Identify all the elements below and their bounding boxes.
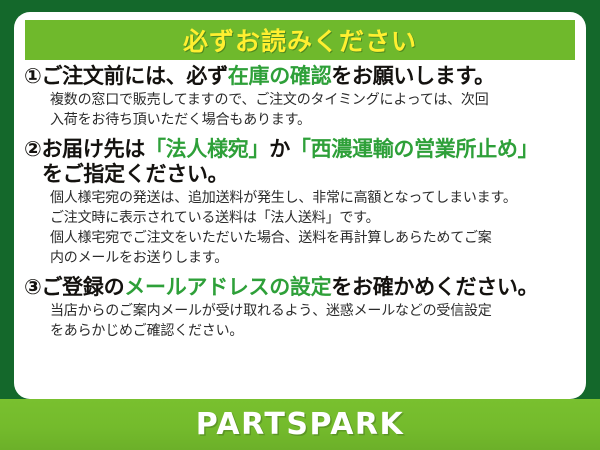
notice-item-2-subline-1: 個人様宅宛の発送は、追加送料が発生し、非常に高額となってしまいます。: [50, 189, 578, 209]
footer-bar: PARTSPARK: [0, 399, 600, 450]
notice-item-3-subline-1: 当店からのご案内メールが受け取れるよう、迷惑メールなどの受信設定: [50, 302, 578, 322]
notice-items: ①ご注文前には、必ず在庫の確認をお願いします。 複数の窓口で販売してますので、ご…: [14, 64, 586, 348]
notice-item-1-heading: ①ご注文前には、必ず在庫の確認をお願いします。: [24, 64, 578, 89]
brand-logo: PARTSPARK: [196, 407, 405, 442]
notice-item-1: ①ご注文前には、必ず在庫の確認をお願いします。 複数の窓口で販売してますので、ご…: [24, 64, 578, 131]
notice-item-1-highlight: 在庫の確認: [228, 64, 332, 88]
notice-item-1-head-pre: ご注文前には、必ず: [41, 64, 227, 88]
notice-item-2: ②お届け先は「法人様宛」か「西濃運輸の営業所止め」 をご指定ください。 個人様宅…: [24, 137, 578, 269]
notice-item-2-highlight: 「法人様宛」: [145, 137, 269, 161]
notice-item-1-marker: ①: [24, 64, 41, 88]
notice-banner: 必ずお読みください ①ご注文前には、必ず在庫の確認をお願いします。 複数の窓口で…: [0, 0, 600, 450]
notice-item-2-head-pre: お届け先は: [41, 137, 145, 161]
notice-item-3-head-pre: ご登録の: [41, 275, 124, 299]
notice-item-2-marker: ②: [24, 137, 41, 161]
notice-item-1-subtext: 複数の窓口で販売してますので、ご注文のタイミングによっては、次回 入荷をお待ち頂…: [24, 91, 578, 131]
notice-item-3-marker: ③: [24, 275, 41, 299]
notice-item-1-head-post: をお願いします。: [331, 64, 495, 88]
notice-item-2-subline-4: 内のメールをお送りします。: [50, 249, 578, 269]
notice-item-2-heading: ②お届け先は「法人様宛」か「西濃運輸の営業所止め」: [24, 137, 578, 162]
header-title: 必ずお読みください: [183, 22, 417, 58]
header-strip: 必ずお読みください: [25, 20, 575, 60]
notice-item-3-heading: ③ご登録のメールアドレスの設定をお確かめください。: [24, 275, 578, 300]
notice-item-2-highlight-2: 「西濃運輸の営業所止め」: [290, 137, 538, 161]
notice-item-1-subline-2: 入荷をお待ち頂いただく場合もあります。: [50, 111, 578, 131]
notice-item-1-subline-1: 複数の窓口で販売してますので、ご注文のタイミングによっては、次回: [50, 91, 578, 111]
notice-item-3-subtext: 当店からのご案内メールが受け取れるよう、迷惑メールなどの受信設定 をあらかじめご…: [24, 302, 578, 342]
notice-item-2-head-mid: か: [269, 137, 290, 161]
notice-item-2-subtext: 個人様宅宛の発送は、追加送料が発生し、非常に高額となってしまいます。 ご注文時に…: [24, 189, 578, 269]
notice-item-3-head-post: をお確かめください。: [331, 275, 538, 299]
notice-item-2-subline-3: 個人様宅宛でご注文をいただいた場合、送料を再計算しあらためてご案: [50, 229, 578, 249]
notice-item-2-subline-2: ご注文時に表示されている送料は「法人送料」です。: [50, 209, 578, 229]
notice-item-2-heading-line2: をご指定ください。: [24, 162, 578, 187]
notice-item-3: ③ご登録のメールアドレスの設定をお確かめください。 当店からのご案内メールが受け…: [24, 275, 578, 342]
notice-item-3-subline-2: をあらかじめご確認ください。: [50, 322, 578, 342]
notice-item-3-highlight: メールアドレスの設定: [124, 275, 331, 299]
notice-card: 必ずお読みください ①ご注文前には、必ず在庫の確認をお願いします。 複数の窓口で…: [14, 12, 586, 399]
